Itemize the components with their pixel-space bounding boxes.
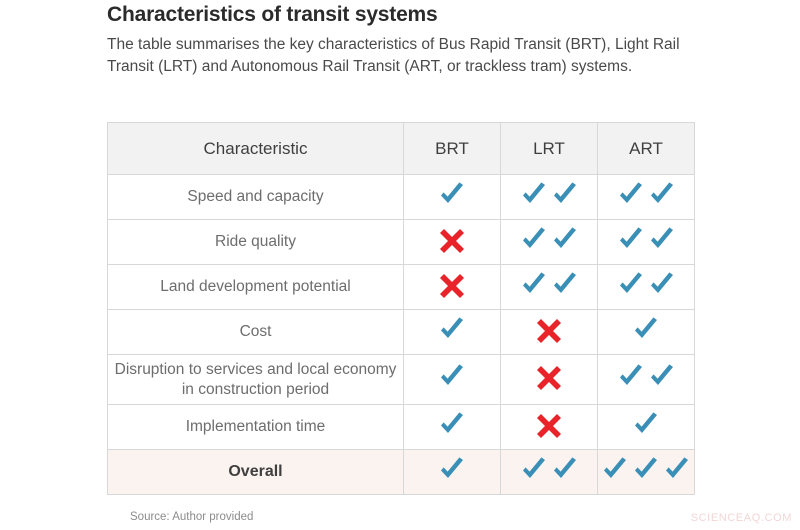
rating-cell-art (598, 310, 695, 355)
rating-marks (616, 271, 677, 299)
rating-marks (600, 456, 692, 484)
check-icon (647, 363, 677, 391)
check-icon (631, 316, 661, 344)
rating-marks (437, 456, 467, 484)
header-block: Characteristics of transit systems The t… (107, 2, 707, 78)
check-icon (550, 181, 580, 209)
rating-marks (534, 363, 564, 391)
transit-characteristics-table: Characteristic BRT LRT ART Speed and cap… (107, 122, 695, 495)
rating-marks (437, 271, 467, 299)
cross-icon (534, 411, 564, 439)
table-row: Ride quality (108, 220, 695, 265)
rating-cell-art (598, 175, 695, 220)
cross-icon (437, 271, 467, 299)
rating-cell-art (598, 265, 695, 310)
rating-cell-art (598, 220, 695, 265)
rating-marks (534, 411, 564, 439)
rating-cell-lrt (501, 355, 598, 405)
rating-cell-art (598, 405, 695, 450)
check-icon (600, 456, 630, 484)
check-icon (550, 456, 580, 484)
check-icon (662, 456, 692, 484)
source-caption: Source: Author provided (130, 511, 253, 523)
column-header-lrt: LRT (501, 123, 598, 175)
check-icon (631, 411, 661, 439)
page-title: Characteristics of transit systems (107, 2, 707, 28)
rating-cell-brt (404, 405, 501, 450)
check-icon (550, 271, 580, 299)
row-label: Speed and capacity (108, 175, 404, 220)
table-row: Overall (108, 450, 695, 495)
check-icon (550, 226, 580, 254)
rating-marks (631, 316, 661, 344)
rating-cell-art (598, 355, 695, 405)
rating-marks (616, 363, 677, 391)
rating-marks (437, 181, 467, 209)
check-icon (437, 363, 467, 391)
cross-icon (534, 316, 564, 344)
check-icon (437, 456, 467, 484)
row-label: Land development potential (108, 265, 404, 310)
rating-marks (519, 456, 580, 484)
check-icon (519, 181, 549, 209)
watermark: SCIENCEAQ.COM (691, 512, 792, 524)
rating-marks (519, 271, 580, 299)
rating-cell-brt (404, 450, 501, 495)
rating-marks (616, 181, 677, 209)
column-header-characteristic: Characteristic (108, 123, 404, 175)
rating-cell-brt (404, 175, 501, 220)
rating-marks (616, 226, 677, 254)
rating-marks (519, 226, 580, 254)
table-row: Implementation time (108, 405, 695, 450)
cross-icon (437, 226, 467, 254)
row-label: Cost (108, 310, 404, 355)
check-icon (519, 456, 549, 484)
rating-cell-brt (404, 355, 501, 405)
row-label: Ride quality (108, 220, 404, 265)
page-subtitle: The table summarises the key characteris… (107, 34, 687, 78)
rating-cell-lrt (501, 175, 598, 220)
rating-cell-brt (404, 265, 501, 310)
check-icon (437, 181, 467, 209)
table-header-row: Characteristic BRT LRT ART (108, 123, 695, 175)
check-icon (647, 271, 677, 299)
check-icon (616, 226, 646, 254)
check-icon (631, 456, 661, 484)
rating-cell-art (598, 450, 695, 495)
table-row: Cost (108, 310, 695, 355)
table-row: Land development potential (108, 265, 695, 310)
check-icon (519, 271, 549, 299)
rating-marks (437, 411, 467, 439)
rating-cell-lrt (501, 265, 598, 310)
cross-icon (534, 363, 564, 391)
rating-cell-lrt (501, 450, 598, 495)
rating-marks (631, 411, 661, 439)
check-icon (616, 181, 646, 209)
row-label: Disruption to services and local economy… (108, 355, 404, 405)
table-row: Speed and capacity (108, 175, 695, 220)
check-icon (616, 271, 646, 299)
column-header-art: ART (598, 123, 695, 175)
column-header-brt: BRT (404, 123, 501, 175)
rating-marks (534, 316, 564, 344)
rating-cell-lrt (501, 405, 598, 450)
rating-cell-lrt (501, 220, 598, 265)
check-icon (616, 363, 646, 391)
rating-marks (437, 226, 467, 254)
table-header: Characteristic BRT LRT ART (108, 123, 695, 175)
check-icon (437, 411, 467, 439)
rating-marks (519, 181, 580, 209)
check-icon (437, 316, 467, 344)
check-icon (647, 181, 677, 209)
table-row: Disruption to services and local economy… (108, 355, 695, 405)
infographic-page: Characteristics of transit systems The t… (0, 0, 800, 530)
row-label-overall: Overall (108, 450, 404, 495)
rating-marks (437, 363, 467, 391)
rating-cell-brt (404, 310, 501, 355)
rating-cell-brt (404, 220, 501, 265)
row-label: Implementation time (108, 405, 404, 450)
table-body: Speed and capacityRide qualityLand devel… (108, 175, 695, 495)
check-icon (647, 226, 677, 254)
rating-cell-lrt (501, 310, 598, 355)
rating-marks (437, 316, 467, 344)
check-icon (519, 226, 549, 254)
